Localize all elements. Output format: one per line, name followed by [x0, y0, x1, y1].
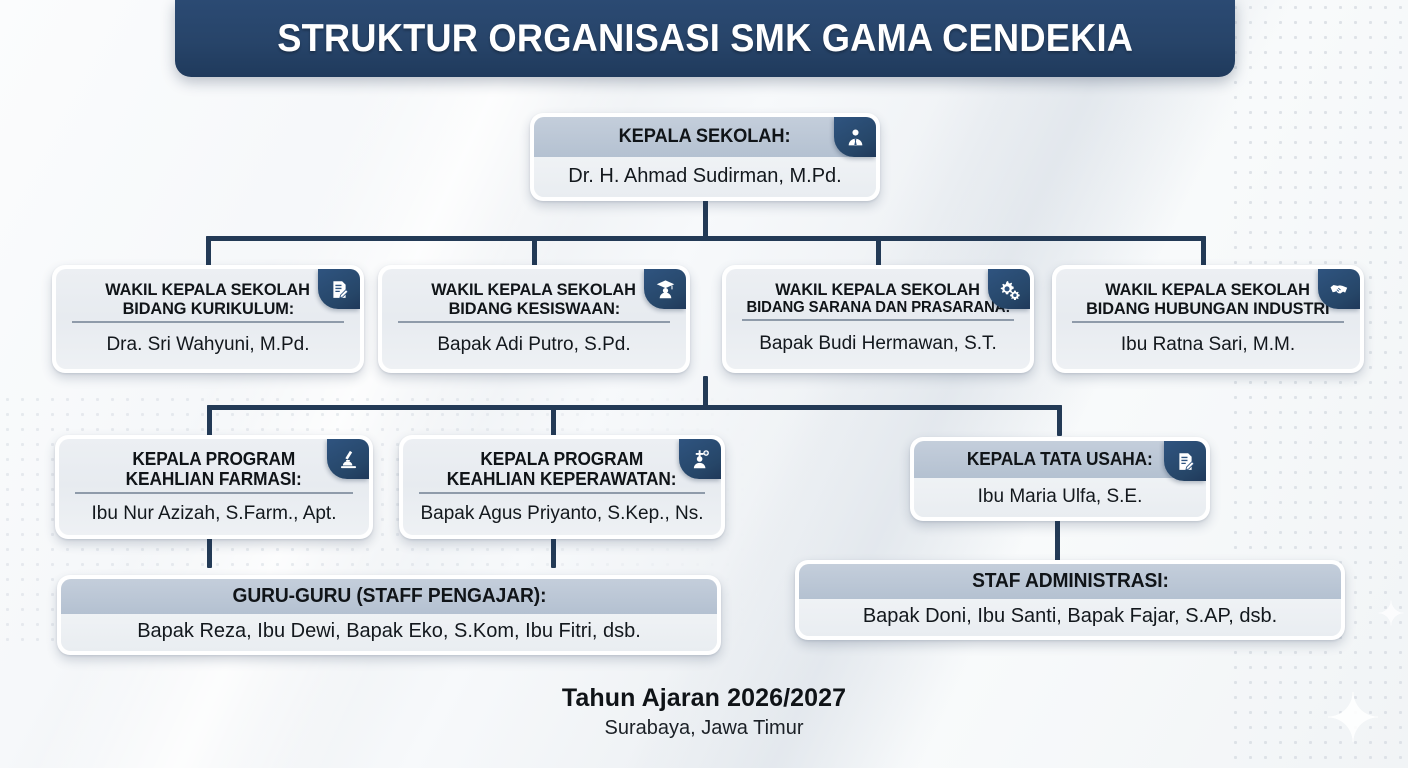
header-bar: STRUKTUR ORGANISASI SMK GAMA CENDEKIA: [175, 0, 1235, 77]
background-dot-pattern-right: [1228, 0, 1408, 768]
divider: [742, 319, 1014, 321]
node-kaprog-farmasi[interactable]: KEPALA PROGRAM KEAHLIAN FARMASI: Ibu Nur…: [55, 435, 373, 539]
divider: [419, 492, 705, 494]
connector-level2-feed: [703, 376, 708, 408]
node-person-name: Ibu Nur Azizah, S.Farm., Apt.: [59, 494, 369, 535]
nurse-icon: [679, 439, 721, 479]
node-title-line: KEPALA TATA USAHA:: [967, 449, 1153, 469]
node-waka-hubin[interactable]: WAKIL KEPALA SEKOLAH BIDANG HUBUNGAN IND…: [1052, 265, 1364, 373]
footer: Tahun Ajaran 2026/2027 Surabaya, Jawa Ti…: [0, 684, 1408, 740]
node-title-line: BIDANG HUBUNGAN INDUSTRI: [1086, 299, 1329, 318]
node-person-name: Bapak Adi Putro, S.Pd.: [382, 323, 686, 369]
node-title-line: WAKIL KEPALA SEKOLAH: [1106, 280, 1311, 299]
node-person-name: Dr. H. Ahmad Sudirman, M.Pd.: [534, 157, 876, 197]
node-title-line: KEPALA SEKOLAH:: [619, 126, 791, 147]
node-guru-guru[interactable]: GURU-GURU (STAFF PENGAJAR): Bapak Reza, …: [57, 575, 721, 655]
document-edit-icon: [318, 269, 360, 309]
node-waka-sarpras[interactable]: WAKIL KEPALA SEKOLAH BIDANG SARANA DAN P…: [722, 265, 1034, 373]
document-edit-icon: [1164, 441, 1206, 481]
node-title-line: KEPALA PROGRAM: [133, 449, 296, 469]
node-kepala-tata-usaha[interactable]: KEPALA TATA USAHA: Ibu Maria Ulfa, S.E.: [910, 437, 1210, 521]
connector-drop-farmasi: [207, 405, 212, 436]
node-title-line: BIDANG SARANA DAN PRASARANA:: [746, 299, 1010, 316]
node-waka-kurikulum[interactable]: WAKIL KEPALA SEKOLAH BIDANG KURIKULUM: D…: [52, 265, 364, 373]
node-person-name: Bapak Budi Hermawan, S.T.: [726, 321, 1030, 369]
node-title-line: KEPALA PROGRAM: [481, 449, 644, 469]
node-person-name: Dra. Sri Wahyuni, M.Pd.: [56, 323, 360, 369]
node-person-name: Ibu Ratna Sari, M.M.: [1056, 323, 1360, 369]
connector-drop-guru-left: [207, 538, 212, 568]
gears-icon: [988, 269, 1030, 309]
microscope-icon: [327, 439, 369, 479]
node-person-name: Bapak Reza, Ibu Dewi, Bapak Eko, S.Kom, …: [61, 614, 717, 651]
divider: [75, 492, 353, 494]
connector-drop-hubin: [1201, 236, 1206, 266]
node-title-line: STAF ADMINISTRASI:: [972, 570, 1169, 592]
footer-location: Surabaya, Jawa Timur: [0, 717, 1408, 740]
handshake-icon: [1318, 269, 1360, 309]
node-title-line: KEAHLIAN FARMASI:: [126, 469, 302, 489]
node-title-line: WAKIL KEPALA SEKOLAH: [106, 280, 311, 299]
org-chart-canvas: STRUKTUR ORGANISASI SMK GAMA CENDEKIA KE…: [0, 0, 1408, 768]
connector-root-stem: [703, 200, 708, 238]
connector-drop-kesiswaan: [532, 236, 537, 266]
connector-drop-sarpras: [876, 236, 881, 266]
node-title-line: GURU-GURU (STAFF PENGAJAR):: [232, 585, 546, 607]
footer-academic-year: Tahun Ajaran 2026/2027: [0, 684, 1408, 713]
node-person-name: Bapak Agus Priyanto, S.Kep., Ns.: [403, 494, 721, 535]
node-title-line: WAKIL KEPALA SEKOLAH: [776, 280, 981, 299]
connector-level2-bus: [207, 405, 1062, 410]
connector-drop-staf-admin: [1055, 520, 1060, 562]
connector-drop-guru-right: [551, 538, 556, 568]
person-tie-icon: [834, 117, 876, 157]
node-title-line: BIDANG KURIKULUM:: [122, 299, 294, 318]
node-kepala-sekolah[interactable]: KEPALA SEKOLAH: Dr. H. Ahmad Sudirman, M…: [530, 113, 880, 201]
node-title-line: BIDANG KESISWAAN:: [448, 299, 620, 318]
page-title: STRUKTUR ORGANISASI SMK GAMA CENDEKIA: [277, 17, 1133, 61]
node-title-line: WAKIL KEPALA SEKOLAH: [432, 280, 637, 299]
node-person-name: Ibu Maria Ulfa, S.E.: [914, 478, 1206, 517]
graduate-student-icon: [644, 269, 686, 309]
divider: [72, 321, 344, 323]
connector-drop-tata-usaha: [1057, 405, 1062, 436]
connector-drop-keperawatan: [551, 405, 556, 436]
node-person-name: Bapak Doni, Ibu Santi, Bapak Fajar, S.AP…: [799, 599, 1341, 636]
node-title-line: KEAHLIAN KEPERAWATAN:: [447, 469, 677, 489]
node-waka-kesiswaan[interactable]: WAKIL KEPALA SEKOLAH BIDANG KESISWAAN: B…: [378, 265, 690, 373]
sparkle-icon: [1378, 600, 1404, 626]
connector-level1-bus: [206, 236, 1206, 241]
node-kaprog-keperawatan[interactable]: KEPALA PROGRAM KEAHLIAN KEPERAWATAN: Bap…: [399, 435, 725, 539]
divider: [398, 321, 670, 323]
node-staf-administrasi[interactable]: STAF ADMINISTRASI: Bapak Doni, Ibu Santi…: [795, 560, 1345, 640]
connector-drop-kurikulum: [206, 236, 211, 266]
divider: [1072, 321, 1344, 323]
